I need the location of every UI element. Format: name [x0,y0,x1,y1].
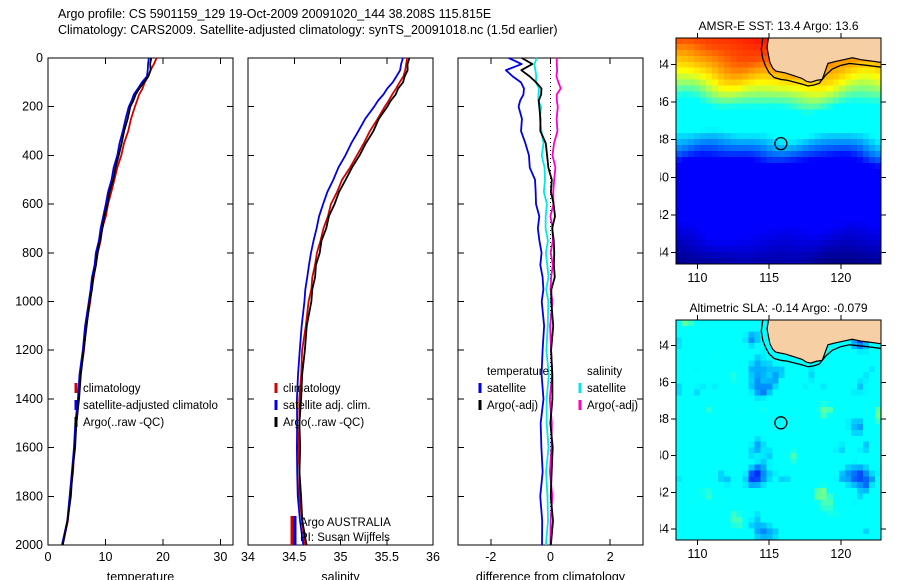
y-tick-label: 800 [22,246,43,260]
x-tick-label: 34.5 [282,550,306,564]
legend-entry-label: Argo(-adj) [487,400,538,412]
x-tick-label: 34 [241,550,255,564]
x-axis-label: salinity [321,570,360,580]
x-axis-label: difference from climatology [476,570,626,580]
sla-map[interactable]: Altimetric SLA: -0.14 Argo: -0.079110115… [660,298,900,580]
map-y-tick-label: -40 [660,449,669,463]
x-tick-label: 0 [45,550,52,564]
map-y-tick-label: -38 [660,412,669,426]
x-tick-label: 10 [99,550,113,564]
page-title: Argo profile: CS 5901159_129 19-Oct-2009… [58,6,558,38]
map-y-tick-label: -38 [660,133,669,147]
y-tick-label: 1000 [15,295,43,309]
x-tick-label: 35.5 [375,550,399,564]
y-tick-label: 1400 [15,392,43,406]
x-tick-label: -2 [485,550,496,564]
y-tick-label: 200 [22,100,43,114]
map-y-tick-label: -36 [660,95,669,109]
map-x-tick-label: 110 [688,271,708,285]
sla-map-panel: Altimetric SLA: -0.14 Argo: -0.079110115… [660,298,900,580]
y-tick-label: 1200 [15,343,43,357]
map-x-tick-label: 120 [830,271,851,285]
map-y-tick-label: -44 [660,522,669,536]
sst-map-panel: AMSR-E SST: 13.4 Argo: 13.6110115120-34-… [660,16,900,301]
legend-column-header: salinity [587,366,622,378]
attribution-pi: PI: Susan Wijffels [300,532,390,544]
y-tick-label: 2000 [15,538,43,552]
map-y-tick-label: -42 [660,485,669,499]
map-y-tick-label: -34 [660,339,669,353]
map-title: AMSR-E SST: 13.4 Argo: 13.6 [698,19,858,33]
y-tick-label: 400 [22,148,43,162]
title-line-1: Argo profile: CS 5901159_129 19-Oct-2009… [58,6,558,22]
legend-entry-label: climatology [283,383,341,395]
legend-entry-label: satellite-adjusted climatolo [83,400,218,412]
x-axis-label: temperature [107,570,174,580]
map-y-tick-label: -36 [660,375,669,389]
map-x-tick-label: 115 [759,271,779,285]
y-tick-label: 0 [36,51,43,65]
map-y-tick-label: -42 [660,208,669,222]
map-y-tick-label: -34 [660,57,669,71]
legend-entry-label: Argo(..raw -QC) [83,417,164,429]
y-tick-label: 1800 [15,489,43,503]
difference-profile-panel: -202difference from climatologytemperatu… [410,40,665,580]
map-title: Altimetric SLA: -0.14 Argo: -0.079 [689,301,867,315]
x-tick-label: 2 [607,550,614,564]
map-x-tick-label: 115 [759,547,779,561]
attribution-org: Argo AUSTRALIA [300,517,391,529]
map-y-tick-label: -40 [660,170,669,184]
y-tick-label: 600 [22,197,43,211]
legend-column-header: temperature [487,366,549,378]
legend-entry-label: climatology [83,383,141,395]
x-tick-label: 35 [334,550,348,564]
x-tick-label: 0 [547,550,554,564]
legend-entry-label: satellite [587,383,626,395]
legend-entry-label: satellite [487,383,526,395]
map-x-tick-label: 120 [830,547,851,561]
legend-entry-label: Argo(..raw -QC) [283,417,364,429]
map-y-tick-label: -44 [660,246,669,260]
difference-profile-chart[interactable]: -202difference from climatologytemperatu… [410,40,665,580]
legend-entry-label: Argo(-adj) [587,400,638,412]
plot-frame [248,58,433,545]
title-line-2: Climatology: CARS2009. Satellite-adjuste… [58,22,558,38]
sst-map[interactable]: AMSR-E SST: 13.4 Argo: 13.6110115120-34-… [660,16,900,301]
map-x-tick-label: 110 [688,547,708,561]
x-tick-label: 20 [156,550,170,564]
legend-entry-label: satellite adj. clim. [283,400,371,412]
y-tick-label: 1600 [15,441,43,455]
